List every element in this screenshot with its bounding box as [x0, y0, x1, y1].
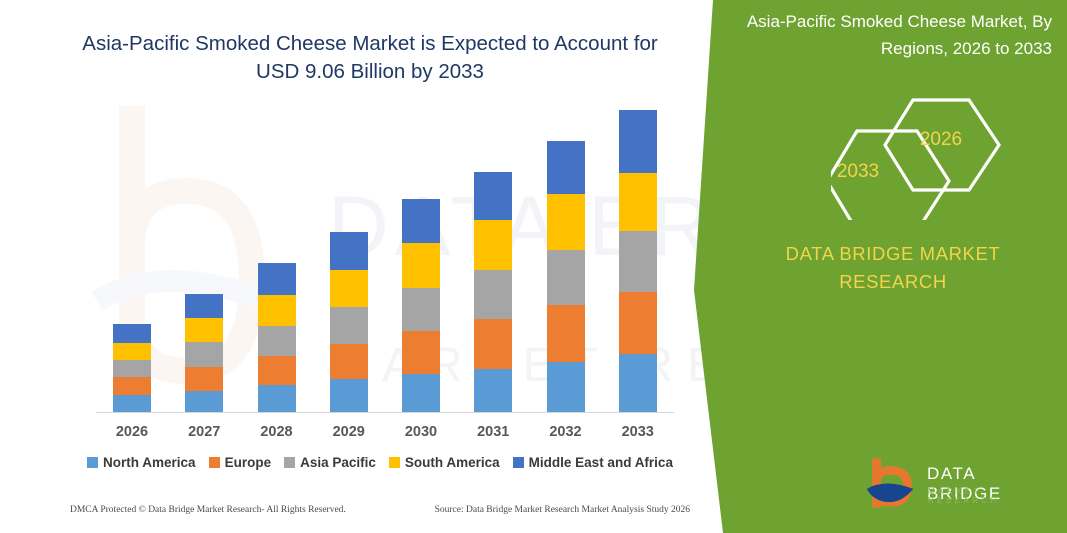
x-axis-tick-label: 2033 [602, 424, 674, 440]
bar-segment[interactable] [619, 354, 657, 412]
x-axis-labels: 20262027202820292030203120322033 [96, 420, 674, 446]
x-axis-line [96, 412, 674, 413]
bar-segment[interactable] [402, 243, 440, 287]
legend-item[interactable]: North America [87, 455, 196, 470]
bar-segment[interactable] [330, 307, 368, 344]
x-axis-tick-label: 2029 [313, 424, 385, 440]
bar-segment[interactable] [619, 292, 657, 354]
green-panel-content: Asia-Pacific Smoked Cheese Market, By Re… [713, 0, 1067, 533]
bar-segment[interactable] [619, 231, 657, 293]
bar-segment[interactable] [330, 379, 368, 412]
bar-segment[interactable] [113, 395, 151, 412]
bar-segment[interactable] [474, 319, 512, 368]
brand-name: DATA BRIDGE MARKET RESEARCH [743, 240, 1043, 296]
infographic-page: DATA BRIDGE MARKET RESEARCH Asia-Pacific… [0, 0, 1067, 533]
legend-label: Europe [225, 455, 272, 470]
bar-stack[interactable] [402, 199, 440, 412]
bar-segment[interactable] [185, 391, 223, 412]
bar-segment[interactable] [330, 344, 368, 379]
bar-segment[interactable] [258, 263, 296, 294]
bar-segment[interactable] [185, 294, 223, 318]
bar-segment[interactable] [402, 374, 440, 412]
footer: DMCA Protected © Data Bridge Market Rese… [70, 505, 690, 515]
bar-segment[interactable] [258, 385, 296, 412]
legend-label: South America [405, 455, 500, 470]
bar-column [530, 141, 602, 412]
logo-sub-text: MARKET RESEARCH [928, 487, 1055, 505]
bar-segment[interactable] [258, 356, 296, 385]
bar-stack[interactable] [258, 263, 296, 412]
panel-title: Asia-Pacific Smoked Cheese Market, By Re… [728, 8, 1052, 62]
bar-segment[interactable] [547, 250, 585, 306]
legend-item[interactable]: Asia Pacific [284, 455, 376, 470]
bar-segment[interactable] [330, 270, 368, 307]
brand-line-1: DATA BRIDGE MARKET [743, 240, 1043, 268]
x-axis-tick-label: 2032 [530, 424, 602, 440]
bar-column [168, 294, 240, 412]
bar-segment[interactable] [547, 141, 585, 194]
bar-segment[interactable] [619, 173, 657, 231]
bar-segment[interactable] [402, 199, 440, 243]
legend-item[interactable]: Europe [209, 455, 272, 470]
bar-segment[interactable] [113, 377, 151, 394]
bar-segment[interactable] [547, 362, 585, 412]
legend-label: North America [103, 455, 196, 470]
legend-swatch-icon [284, 457, 295, 468]
bar-column [457, 172, 529, 412]
bar-column [96, 324, 168, 412]
bar-column [241, 263, 313, 412]
bar-segment[interactable] [547, 305, 585, 362]
bar-segment[interactable] [113, 360, 151, 377]
bar-column [385, 199, 457, 412]
hexagon-2026-label: 2026 [911, 129, 971, 151]
bar-segment[interactable] [619, 110, 657, 173]
bar-segment[interactable] [330, 232, 368, 269]
bar-segment[interactable] [185, 318, 223, 342]
bar-segment[interactable] [474, 369, 512, 412]
legend-swatch-icon [209, 457, 220, 468]
bar-stack[interactable] [330, 232, 368, 412]
x-axis-tick-label: 2030 [385, 424, 457, 440]
bar-segment[interactable] [113, 343, 151, 360]
logo-b-mark-icon [865, 458, 923, 510]
legend-item[interactable]: South America [389, 455, 500, 470]
bar-segment[interactable] [185, 367, 223, 391]
bar-segment[interactable] [113, 324, 151, 343]
hexagon-2033-label: 2033 [828, 161, 888, 183]
page-title: Asia-Pacific Smoked Cheese Market is Exp… [60, 30, 680, 86]
chart-region: Asia-Pacific Smoked Cheese Market is Exp… [0, 0, 720, 533]
bar-column [602, 110, 674, 412]
bar-segment[interactable] [258, 295, 296, 326]
bar-chart-plot [96, 110, 674, 412]
chart-legend: North AmericaEuropeAsia PacificSouth Ame… [60, 455, 700, 470]
legend-swatch-icon [513, 457, 524, 468]
bar-stack[interactable] [113, 324, 151, 412]
legend-label: Asia Pacific [300, 455, 376, 470]
data-bridge-logo: DATA BRIDGE MARKET RESEARCH [865, 458, 1055, 514]
bar-segment[interactable] [258, 326, 296, 356]
bar-segment[interactable] [402, 288, 440, 331]
bar-stack[interactable] [619, 110, 657, 412]
bar-segment[interactable] [402, 331, 440, 374]
bar-segment[interactable] [547, 194, 585, 250]
brand-line-2: RESEARCH [743, 268, 1043, 296]
bar-stack[interactable] [185, 294, 223, 412]
legend-swatch-icon [389, 457, 400, 468]
bar-segment[interactable] [474, 220, 512, 270]
x-axis-tick-label: 2026 [96, 424, 168, 440]
x-axis-tick-label: 2027 [168, 424, 240, 440]
footer-copyright: DMCA Protected © Data Bridge Market Rese… [70, 505, 346, 515]
legend-item[interactable]: Middle East and Africa [513, 455, 673, 470]
bar-stack[interactable] [547, 141, 585, 412]
x-axis-tick-label: 2031 [457, 424, 529, 440]
legend-swatch-icon [87, 457, 98, 468]
bar-stack[interactable] [474, 172, 512, 412]
bar-segment[interactable] [474, 270, 512, 319]
hexagon-pair [831, 85, 1001, 220]
legend-label: Middle East and Africa [529, 455, 673, 470]
x-axis-tick-label: 2028 [241, 424, 313, 440]
footer-source: Source: Data Bridge Market Research Mark… [435, 505, 690, 515]
bar-segment[interactable] [474, 172, 512, 220]
bar-segment[interactable] [185, 342, 223, 366]
bar-column [313, 232, 385, 412]
